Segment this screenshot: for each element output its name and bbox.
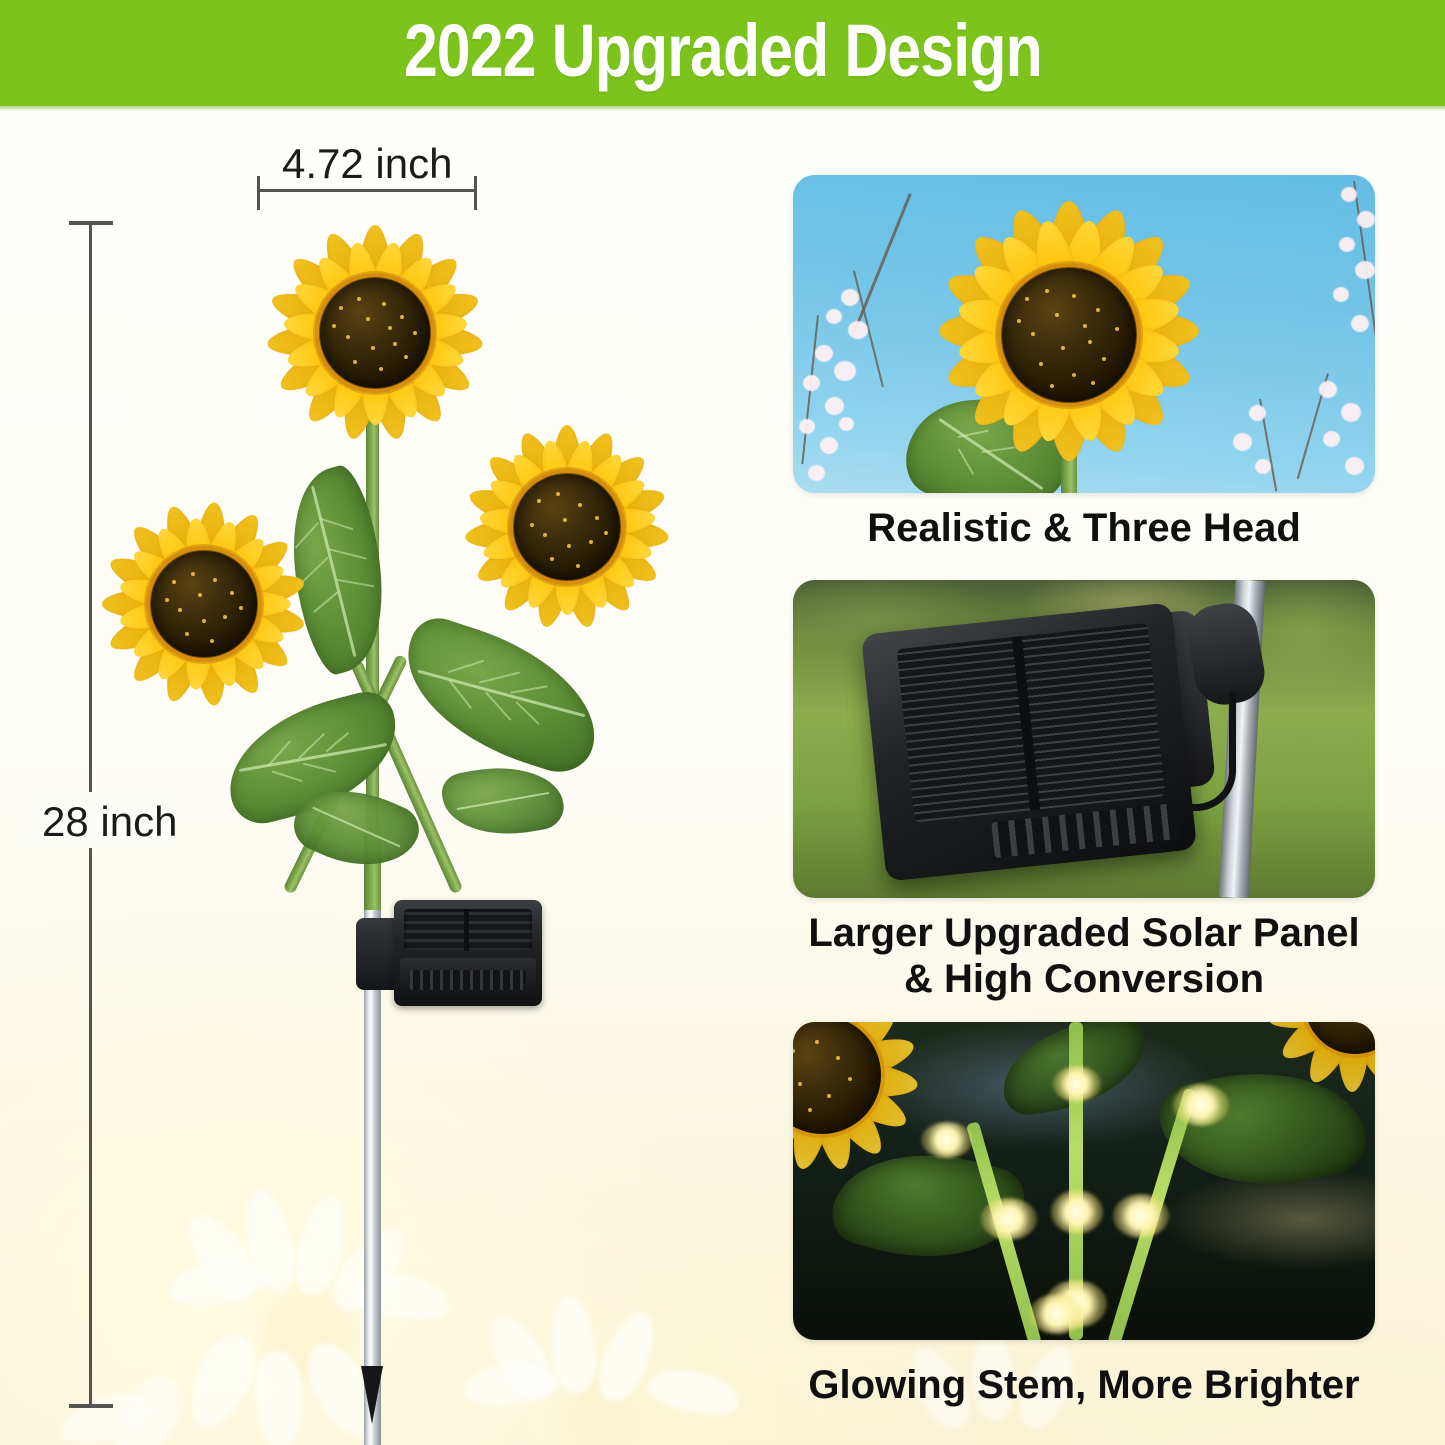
sunflower-right xyxy=(450,410,684,644)
banner-inner: 2022 Upgraded Design xyxy=(0,0,1445,106)
solar-cell-divider xyxy=(464,909,469,951)
panel-glow[interactable] xyxy=(793,1022,1375,1340)
stake-tip-icon xyxy=(361,1366,383,1424)
glow-sunflower-left xyxy=(793,1022,947,1200)
infographic-page: 2022 Upgraded Design 28 inch xyxy=(0,0,1445,1445)
panel1-sunflower xyxy=(919,181,1219,481)
panel-solar[interactable] xyxy=(793,580,1375,898)
sunflower-left xyxy=(88,488,320,720)
ground-stake xyxy=(364,910,381,1445)
solar-cable xyxy=(1171,692,1236,811)
solar-panel-unit xyxy=(394,900,542,1006)
panel-glow-caption: Glowing Stem, More Brighter xyxy=(784,1362,1384,1408)
header-banner: 2022 Upgraded Design xyxy=(0,0,1445,106)
banner-drop-shadow xyxy=(0,106,1445,111)
panel-solar-caption: Larger Upgraded Solar Panel & High Conve… xyxy=(784,910,1384,1003)
panel-realistic[interactable] xyxy=(793,175,1375,493)
glow-sunflower-right xyxy=(1245,1022,1375,1114)
solar-vents xyxy=(410,970,526,990)
panel-realistic-caption: Realistic & Three Head xyxy=(784,505,1384,551)
product-illustration xyxy=(60,170,740,1420)
solar-panel-body xyxy=(861,602,1197,881)
banner-title: 2022 Upgraded Design xyxy=(404,14,1042,88)
